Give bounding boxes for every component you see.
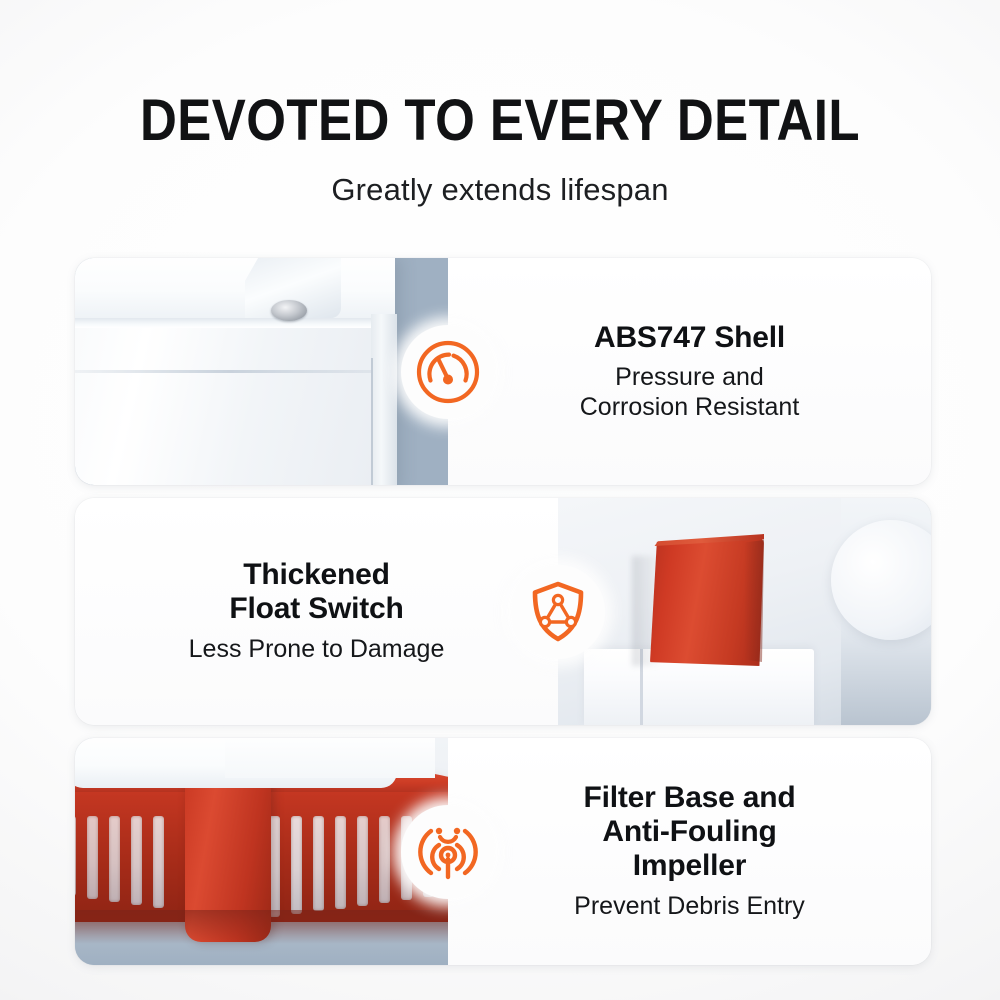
signal-impeller-icon — [411, 815, 485, 889]
page-subtitle: Greatly extends lifespan — [0, 172, 1000, 208]
product-photo-float-switch — [558, 498, 931, 725]
feature-title-line: Impeller — [583, 849, 795, 883]
feature-subtitle: Pressure and Corrosion Resistant — [580, 363, 800, 422]
page-header: DEVOTED TO EVERY DETAIL Greatly extends … — [0, 0, 1000, 208]
filter-slot — [153, 816, 164, 908]
feature-subtitle-line: Less Prone to Damage — [189, 635, 445, 665]
feature-subtitle-line: Pressure and — [580, 363, 800, 393]
feature-text-shell: ABS747 Shell Pressure and Corrosion Resi… — [448, 258, 931, 485]
filter-slot — [379, 816, 390, 903]
shield-network-icon — [523, 577, 593, 647]
feature-title-line: Thickened — [229, 558, 403, 592]
filter-slot — [313, 816, 324, 911]
feature-icon-badge[interactable] — [401, 325, 495, 419]
feature-text-float-switch: Thickened Float Switch Less Prone to Dam… — [75, 498, 558, 725]
feature-title-line: Anti-Fouling — [583, 815, 795, 849]
feature-card-list: ABS747 Shell Pressure and Corrosion Resi… — [75, 258, 931, 978]
filter-slot — [75, 816, 76, 896]
feature-title-line: Filter Base and — [583, 781, 795, 815]
filter-slot — [357, 816, 368, 906]
filter-slot — [131, 816, 142, 905]
feature-card-abs747-shell[interactable]: ABS747 Shell Pressure and Corrosion Resi… — [75, 258, 931, 485]
feature-icon-badge[interactable] — [511, 565, 605, 659]
filter-slot — [109, 816, 120, 902]
feature-subtitle: Prevent Debris Entry — [574, 892, 805, 922]
product-photo-filter-base — [75, 738, 448, 965]
feature-subtitle-line: Corrosion Resistant — [580, 393, 800, 423]
feature-title-line: Float Switch — [229, 592, 403, 626]
filter-slot — [87, 816, 98, 899]
filter-slot — [291, 816, 302, 914]
feature-card-filter-base[interactable]: Filter Base and Anti-Fouling Impeller Pr… — [75, 738, 931, 965]
feature-icon-badge[interactable] — [401, 805, 495, 899]
feature-title: Thickened Float Switch — [229, 558, 403, 626]
product-photo-shell — [75, 258, 448, 485]
filter-slot — [335, 816, 346, 909]
feature-card-thickened-float-switch[interactable]: Thickened Float Switch Less Prone to Dam… — [75, 498, 931, 725]
feature-subtitle: Less Prone to Damage — [189, 635, 445, 665]
feature-title: ABS747 Shell — [594, 321, 785, 355]
feature-text-filter-base: Filter Base and Anti-Fouling Impeller Pr… — [448, 738, 931, 965]
page-title: DEVOTED TO EVERY DETAIL — [60, 92, 940, 150]
feature-title: Filter Base and Anti-Fouling Impeller — [583, 781, 795, 883]
feature-subtitle-line: Prevent Debris Entry — [574, 892, 805, 922]
pressure-gauge-icon — [413, 337, 483, 407]
